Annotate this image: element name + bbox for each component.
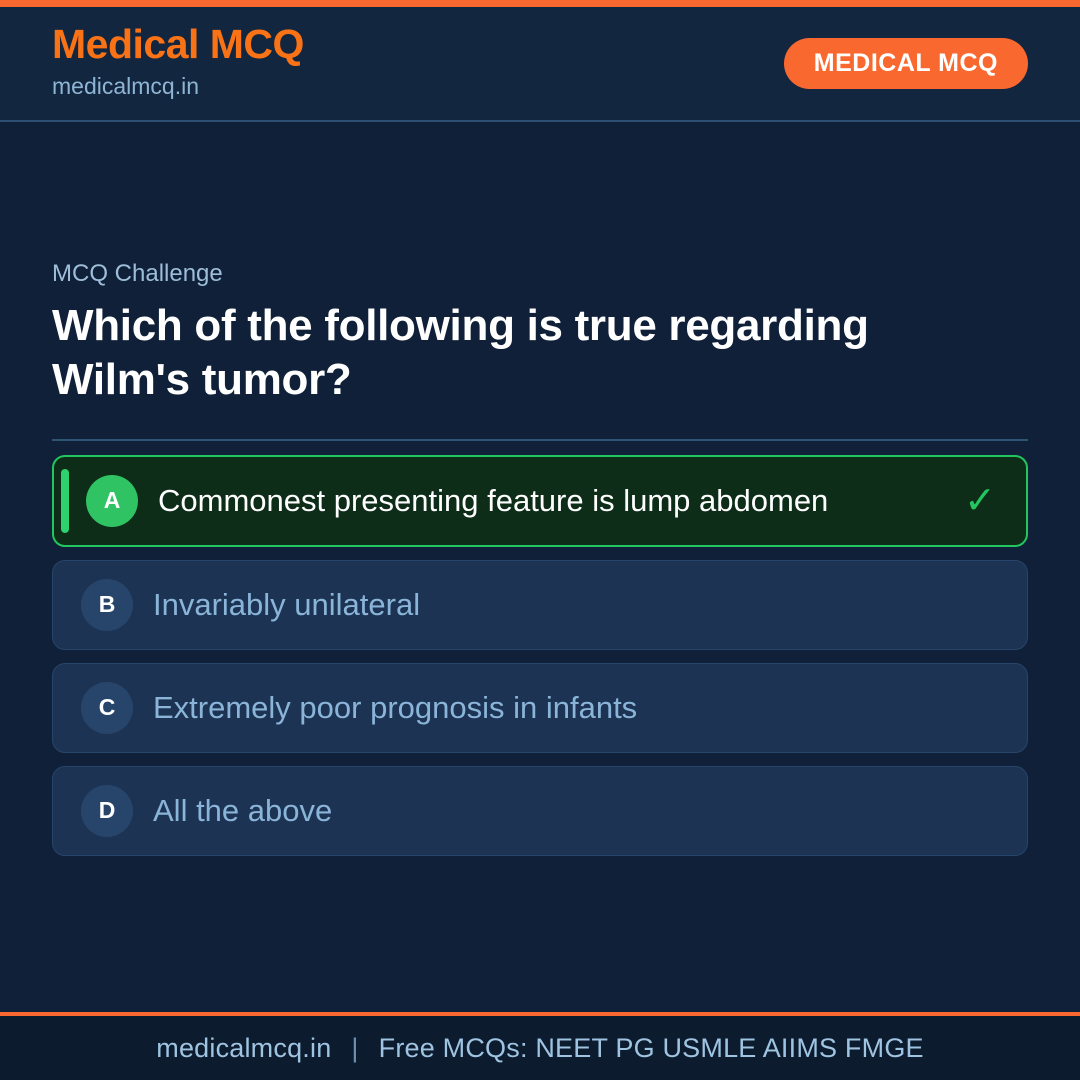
correct-accent-bar [61, 469, 69, 533]
option-a[interactable]: A Commonest presenting feature is lump a… [52, 455, 1028, 547]
footer-bar: medicalmcq.in | Free MCQs: NEET PG USMLE… [0, 1012, 1080, 1080]
option-a-text: Commonest presenting feature is lump abd… [158, 482, 938, 520]
option-d[interactable]: D All the above [52, 766, 1028, 856]
brand-website: medicalmcq.in [52, 69, 304, 104]
mcq-card: Medical MCQ medicalmcq.in MEDICAL MCQ MC… [0, 0, 1080, 1080]
option-c[interactable]: C Extremely poor prognosis in infants [52, 663, 1028, 753]
footer-separator: | [345, 1033, 364, 1064]
top-accent-strip [0, 0, 1080, 7]
brand-block: Medical MCQ medicalmcq.in [52, 23, 304, 104]
option-b[interactable]: B Invariably unilateral [52, 560, 1028, 650]
content-inner: MCQ Challenge Which of the following is … [52, 260, 1028, 855]
option-c-badge: C [81, 682, 133, 734]
option-d-badge: D [81, 785, 133, 837]
header-bar: Medical MCQ medicalmcq.in MEDICAL MCQ [0, 7, 1080, 122]
brand-title: Medical MCQ [52, 23, 304, 66]
header-badge: MEDICAL MCQ [784, 38, 1028, 89]
option-c-text: Extremely poor prognosis in infants [153, 689, 939, 727]
option-b-text: Invariably unilateral [153, 586, 939, 624]
option-b-badge: B [81, 579, 133, 631]
option-d-text: All the above [153, 792, 939, 830]
main-content: MCQ Challenge Which of the following is … [0, 122, 1080, 1012]
check-icon: ✓ [958, 482, 1002, 520]
question-divider [52, 439, 1028, 441]
eyebrow-label: MCQ Challenge [52, 260, 1028, 289]
question-text: Which of the following is true regarding… [52, 299, 952, 406]
footer-site[interactable]: medicalmcq.in [156, 1033, 331, 1064]
footer-text: medicalmcq.in | Free MCQs: NEET PG USMLE… [156, 1033, 923, 1064]
option-a-badge: A [86, 475, 138, 527]
options-list: A Commonest presenting feature is lump a… [52, 455, 1028, 856]
footer-exams: Free MCQs: NEET PG USMLE AIIMS FMGE [379, 1033, 924, 1064]
